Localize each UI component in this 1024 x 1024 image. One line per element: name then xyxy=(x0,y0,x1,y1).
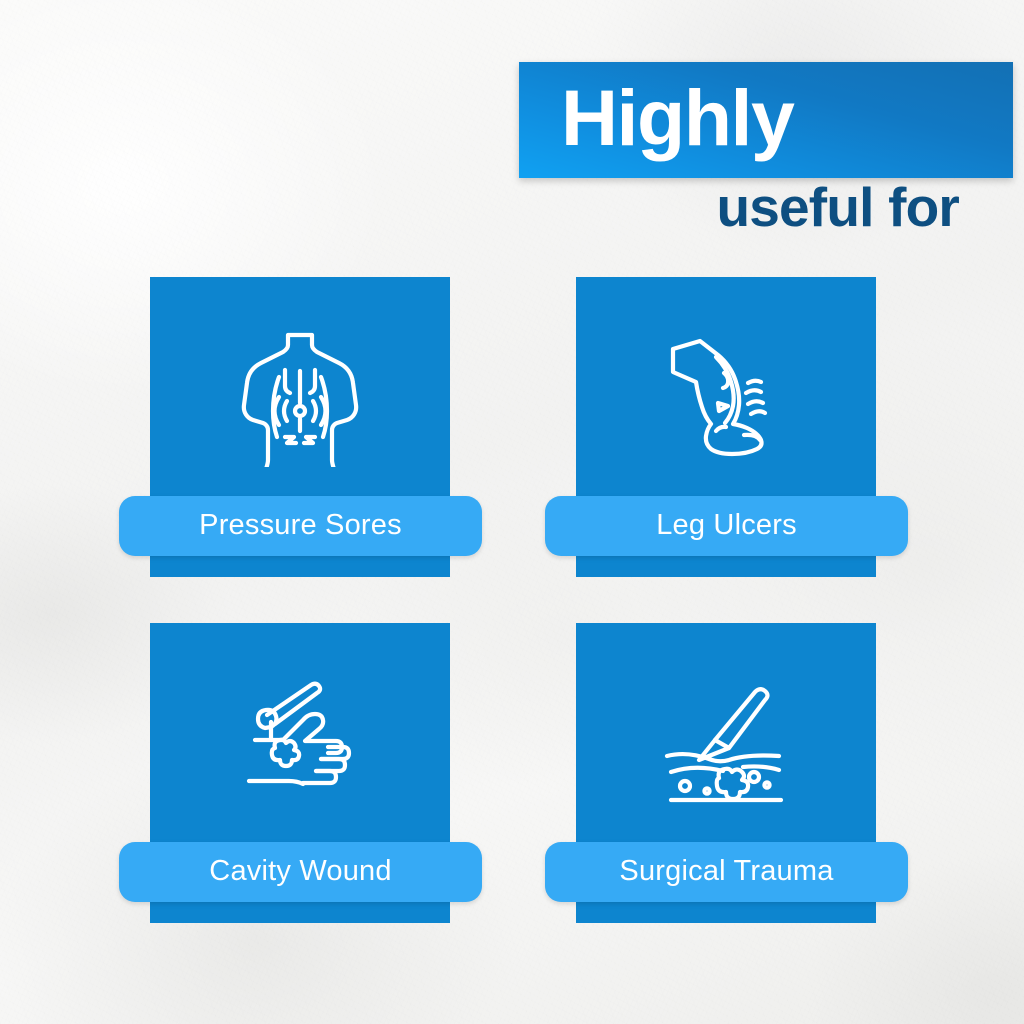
card-pressure-sores[interactable]: Pressure Sores xyxy=(150,277,450,577)
card-label-pill[interactable]: Pressure Sores xyxy=(119,496,482,556)
card-label-text: Cavity Wound xyxy=(209,857,391,886)
card-label-text: Leg Ulcers xyxy=(656,511,797,540)
card-label-pill[interactable]: Surgical Trauma xyxy=(545,842,908,902)
hand-wound-tweezers-icon xyxy=(150,623,450,863)
card-label-pill[interactable]: Leg Ulcers xyxy=(545,496,908,556)
card-surgical-trauma[interactable]: Surgical Trauma xyxy=(576,623,876,923)
scalpel-skin-layers-icon xyxy=(576,623,876,863)
card-label-text: Surgical Trauma xyxy=(619,857,833,886)
leg-ulcer-icon xyxy=(576,277,876,517)
human-back-pain-icon xyxy=(150,277,450,517)
card-leg-ulcers[interactable]: Leg Ulcers xyxy=(576,277,876,577)
card-label-text: Pressure Sores xyxy=(199,511,402,540)
card-label-pill[interactable]: Cavity Wound xyxy=(119,842,482,902)
card-grid: Pressure Sores xyxy=(0,0,1024,1024)
card-cavity-wound[interactable]: Cavity Wound xyxy=(150,623,450,923)
